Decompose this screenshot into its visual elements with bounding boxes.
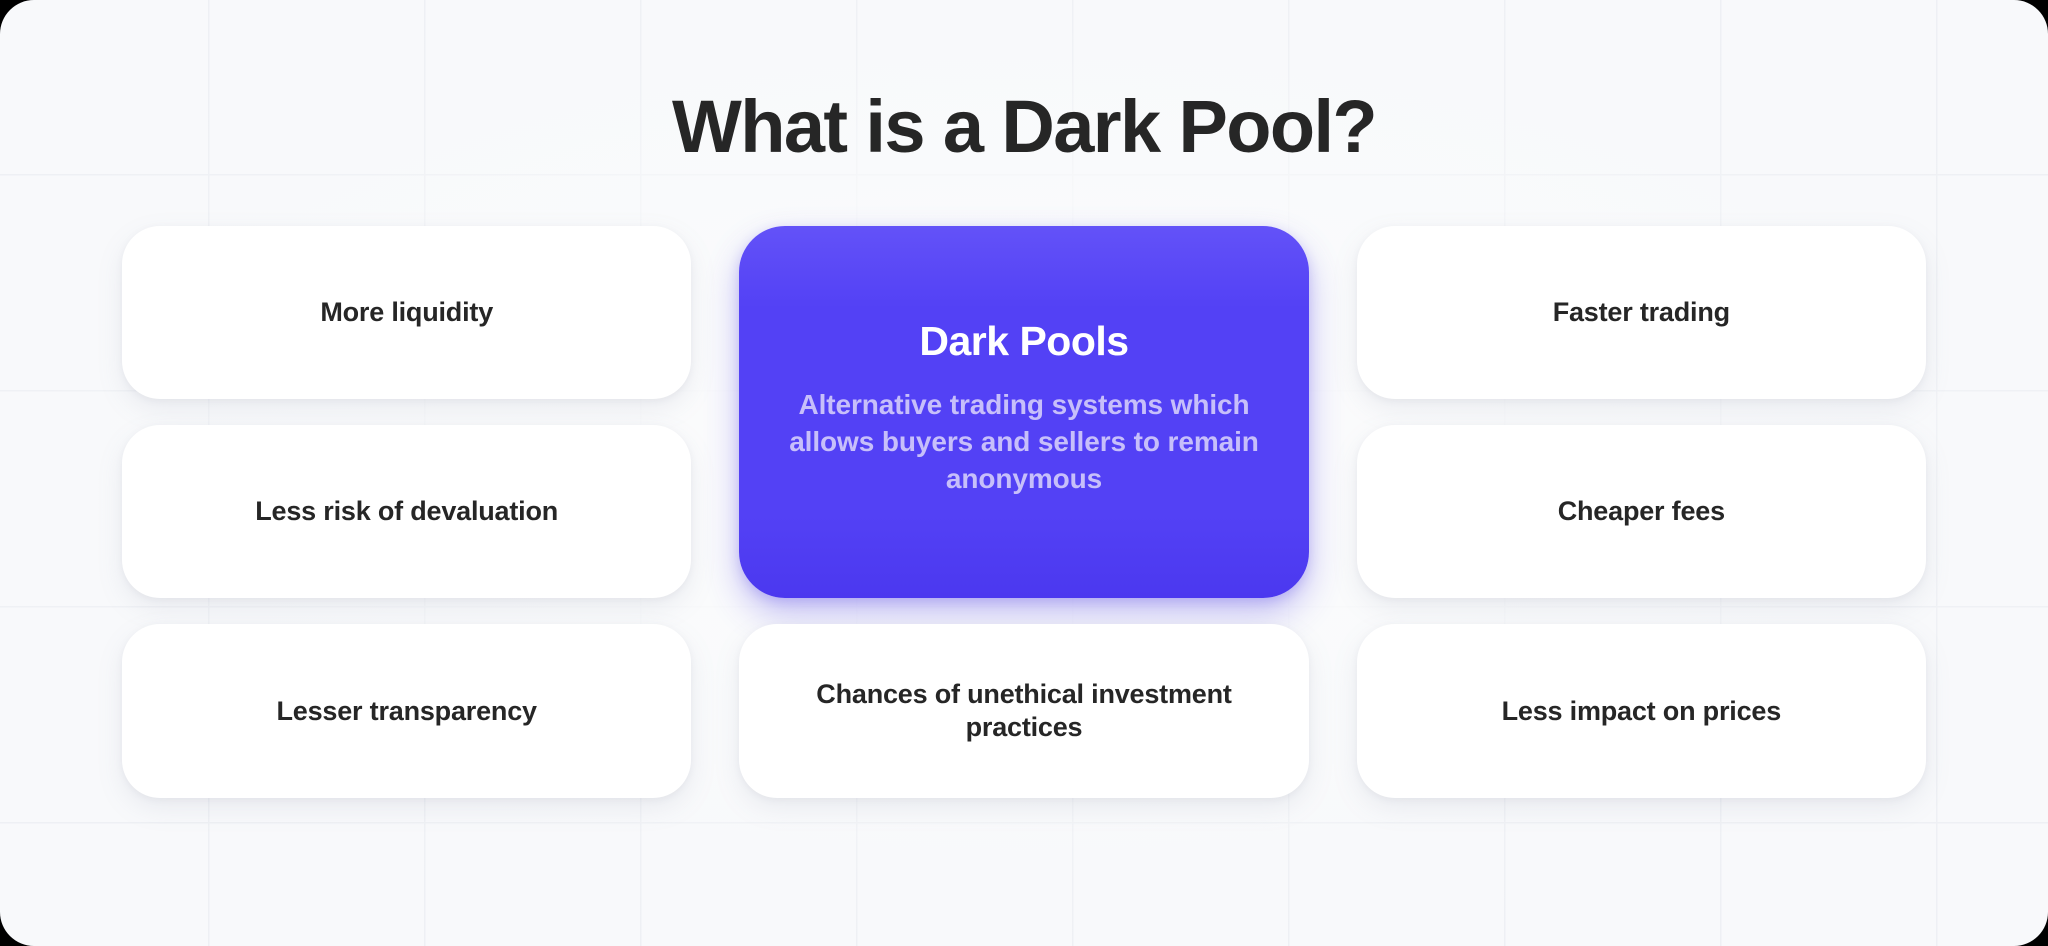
card-label: Cheaper fees	[1558, 495, 1725, 528]
infographic-page: What is a Dark Pool? More liquidity Less…	[0, 0, 2048, 946]
benefit-card-cheaper-fees[interactable]: Cheaper fees	[1357, 425, 1926, 598]
hero-card-dark-pools[interactable]: Dark Pools Alternative trading systems w…	[739, 226, 1308, 599]
benefit-card-unethical-investment-practices[interactable]: Chances of unethical investment practice…	[739, 624, 1308, 797]
infographic-content: What is a Dark Pool? More liquidity Less…	[0, 0, 2048, 946]
benefit-card-lesser-transparency[interactable]: Lesser transparency	[122, 624, 691, 797]
benefit-card-more-liquidity[interactable]: More liquidity	[122, 226, 691, 399]
card-label: Faster trading	[1553, 296, 1730, 329]
card-label: Less impact on prices	[1502, 695, 1781, 728]
card-label: Less risk of devaluation	[255, 495, 558, 528]
hero-description: Alternative trading systems which allows…	[785, 386, 1262, 498]
page-title: What is a Dark Pool?	[122, 0, 1926, 166]
benefit-card-less-risk-of-devaluation[interactable]: Less risk of devaluation	[122, 425, 691, 598]
card-label: More liquidity	[320, 296, 493, 329]
card-label: Chances of unethical investment practice…	[773, 678, 1274, 744]
card-label: Lesser transparency	[276, 695, 536, 728]
benefit-card-less-impact-on-prices[interactable]: Less impact on prices	[1357, 624, 1926, 797]
hero-title: Dark Pools	[919, 319, 1128, 364]
cards-grid: More liquidity Less risk of devaluation …	[122, 226, 1926, 798]
benefit-card-faster-trading[interactable]: Faster trading	[1357, 226, 1926, 399]
